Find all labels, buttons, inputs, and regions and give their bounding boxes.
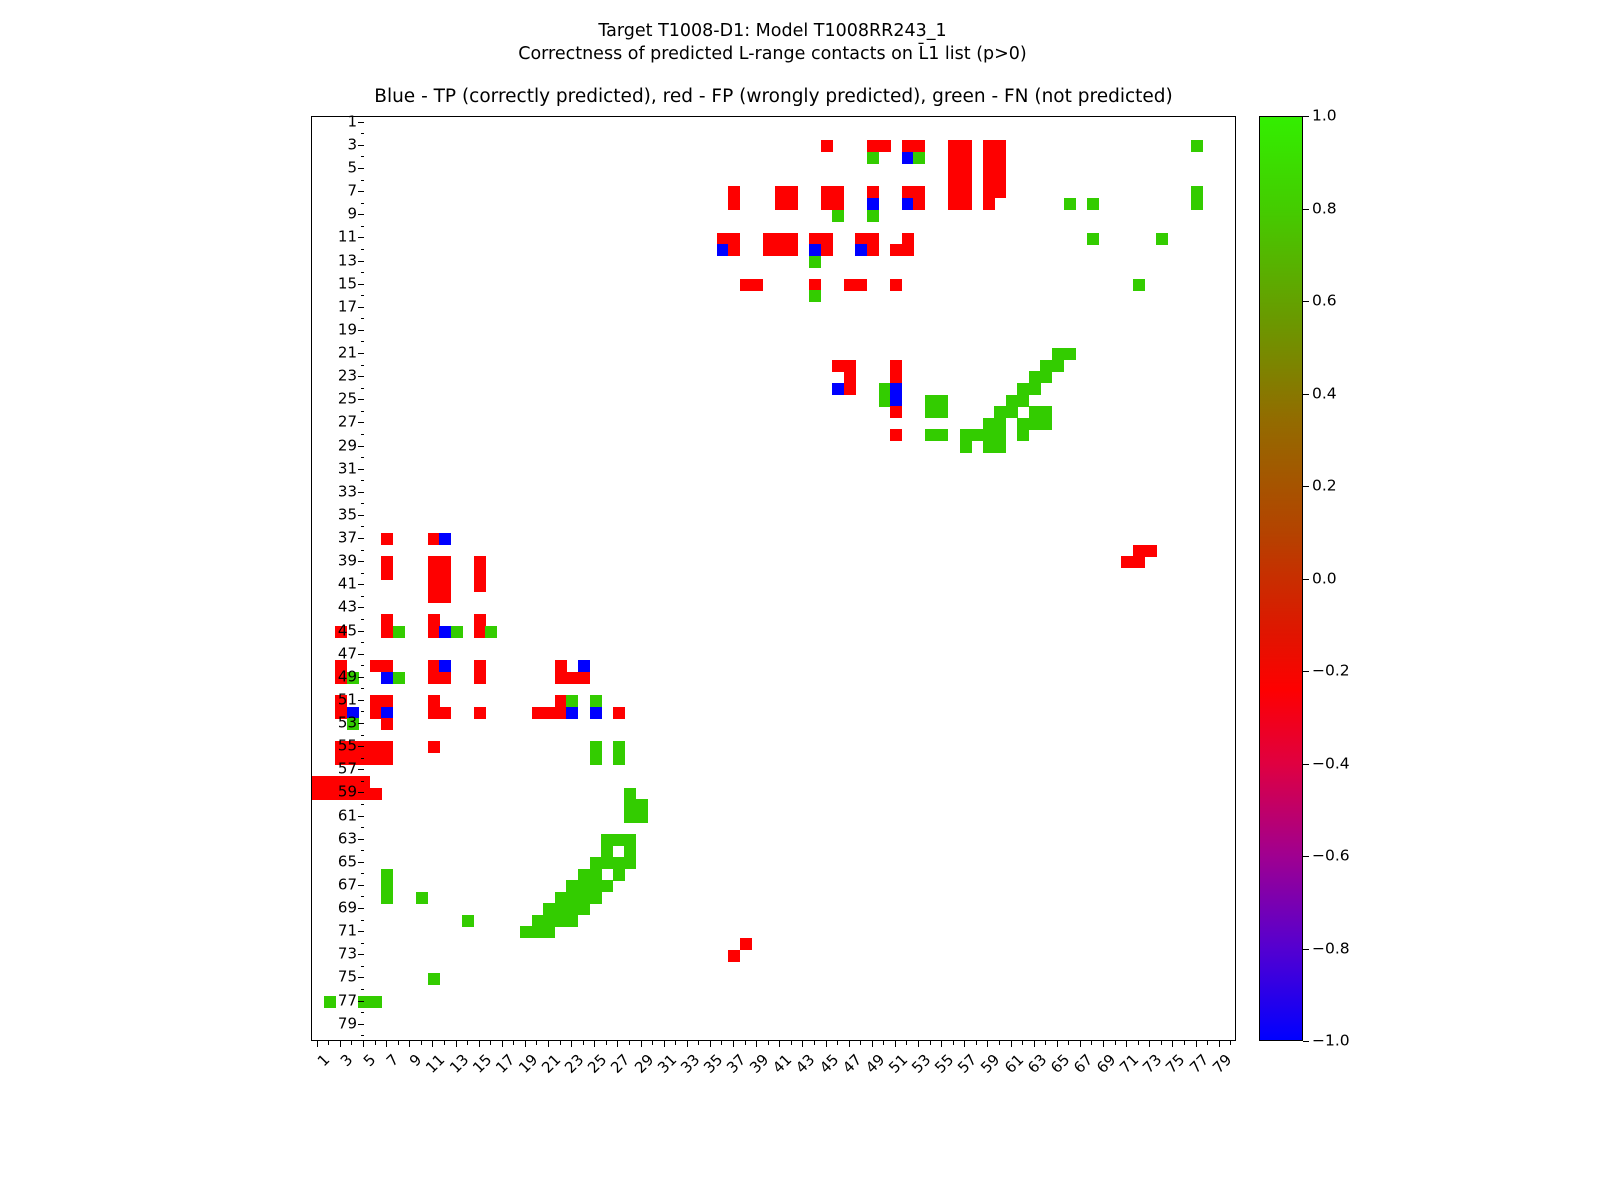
y-tick-mark xyxy=(361,480,365,481)
contact-cell-fn xyxy=(416,892,428,904)
y-tick-mark xyxy=(358,954,364,955)
contact-cell-fp xyxy=(728,198,740,210)
y-tick-label: 63 xyxy=(338,831,357,846)
contact-cell-fn xyxy=(324,996,336,1008)
colorbar-tick-mark xyxy=(1303,301,1309,302)
x-tick-mark xyxy=(1045,1041,1046,1045)
colorbar-tick-mark xyxy=(1303,764,1309,765)
contact-cell-fp xyxy=(381,614,393,626)
x-tick-mark xyxy=(456,1041,457,1047)
colorbar[interactable] xyxy=(1259,116,1303,1041)
colorbar-tick-label: 1.0 xyxy=(1312,108,1337,124)
contact-cell-fn xyxy=(613,741,625,753)
contact-cell-fn xyxy=(613,753,625,765)
y-tick-mark xyxy=(361,365,365,366)
x-tick-mark xyxy=(791,1041,792,1045)
contact-cell-fp xyxy=(890,360,902,372)
y-tick-label: 79 xyxy=(338,1016,357,1031)
x-tick-mark xyxy=(444,1041,445,1045)
contact-cell-fn xyxy=(832,210,844,222)
contact-cell-fp xyxy=(844,371,856,383)
contact-cell-fn xyxy=(566,880,578,892)
y-tick-mark xyxy=(361,735,365,736)
contact-cell-fn xyxy=(994,406,1006,418)
contact-cell-fp xyxy=(994,186,1006,198)
contact-cell-fp xyxy=(786,186,798,198)
colorbar-tick-label: 0.0 xyxy=(1312,571,1337,587)
contact-cell-fp xyxy=(358,741,370,753)
y-tick-mark xyxy=(361,550,365,551)
contact-cell-fn xyxy=(543,926,555,938)
contact-cell-fp xyxy=(381,556,393,568)
y-tick-mark xyxy=(358,607,364,608)
y-tick-mark xyxy=(361,989,365,990)
contact-cell-fn xyxy=(624,799,636,811)
contact-cell-fp xyxy=(775,198,787,210)
contact-cell-fp xyxy=(890,406,902,418)
contact-cell-fn xyxy=(1133,279,1145,291)
contact-cell-tp xyxy=(381,672,393,684)
contact-cell-fp xyxy=(381,626,393,638)
y-tick-label: 73 xyxy=(338,947,357,962)
x-tick-mark xyxy=(386,1041,387,1047)
x-tick-mark xyxy=(860,1041,861,1045)
x-tick-mark xyxy=(617,1041,618,1047)
y-tick-mark xyxy=(358,769,364,770)
x-tick-mark xyxy=(1103,1041,1104,1047)
x-tick-mark xyxy=(826,1041,827,1047)
colorbar-tick-mark xyxy=(1303,579,1309,580)
y-tick-label: 39 xyxy=(338,554,357,569)
contact-cell-fp xyxy=(994,175,1006,187)
contact-cell-fp xyxy=(439,568,451,580)
contact-cell-fp xyxy=(960,163,972,175)
contact-cell-fn xyxy=(462,915,474,927)
x-tick-mark xyxy=(964,1041,965,1047)
contact-cell-fn xyxy=(393,626,405,638)
x-tick-mark xyxy=(583,1041,584,1045)
y-tick-mark xyxy=(361,457,365,458)
x-tick-mark xyxy=(351,1041,352,1045)
contact-cell-fp xyxy=(890,279,902,291)
contact-cell-fn xyxy=(636,799,648,811)
y-tick-mark xyxy=(361,573,365,574)
y-tick-mark xyxy=(361,526,365,527)
contact-cell-tp xyxy=(439,626,451,638)
y-tick-mark xyxy=(358,839,364,840)
x-tick-mark xyxy=(328,1041,329,1045)
x-tick-mark xyxy=(1057,1041,1058,1047)
contact-cell-fp xyxy=(324,788,336,800)
contact-cell-fp xyxy=(844,279,856,291)
x-tick-mark xyxy=(675,1041,676,1045)
colorbar-tick-mark xyxy=(1303,394,1309,395)
contact-cell-fp xyxy=(555,707,567,719)
x-tick-mark xyxy=(1022,1041,1023,1045)
contact-cell-fp xyxy=(775,186,787,198)
y-tick-mark xyxy=(361,156,365,157)
contact-cell-layer xyxy=(312,117,1235,1040)
contact-cell-fn xyxy=(1064,348,1076,360)
y-tick-mark xyxy=(358,492,364,493)
contact-cell-tp xyxy=(890,383,902,395)
contact-cell-fp xyxy=(474,568,486,580)
contact-cell-fn xyxy=(624,857,636,869)
contact-cell-fp xyxy=(786,233,798,245)
y-tick-mark xyxy=(358,538,364,539)
axes-title-legend: Blue - TP (correctly predicted), red - F… xyxy=(311,86,1236,107)
contact-cell-fp xyxy=(474,626,486,638)
contact-cell-fn xyxy=(1017,395,1029,407)
colorbar-tick-label: 0.6 xyxy=(1312,293,1337,309)
y-tick-mark xyxy=(361,411,365,412)
contact-cell-fp xyxy=(613,707,625,719)
contact-cell-fp xyxy=(821,244,833,256)
contact-cell-fn xyxy=(578,892,590,904)
x-tick-mark xyxy=(1011,1041,1012,1047)
y-tick-label: 61 xyxy=(338,808,357,823)
contact-cell-fn xyxy=(624,811,636,823)
x-tick-mark xyxy=(987,1041,988,1047)
contact-cell-fp xyxy=(832,198,844,210)
y-tick-mark xyxy=(361,133,365,134)
contact-cell-fp xyxy=(983,198,995,210)
contact-cell-fn xyxy=(994,441,1006,453)
contact-cell-fn xyxy=(543,915,555,927)
y-tick-label: 25 xyxy=(338,392,357,407)
y-tick-mark xyxy=(358,977,364,978)
x-tick-mark xyxy=(594,1041,595,1047)
contact-cell-fn xyxy=(578,880,590,892)
x-tick-mark xyxy=(560,1041,561,1045)
y-tick-mark xyxy=(358,191,364,192)
colorbar-tick-label: −0.4 xyxy=(1312,756,1350,772)
x-tick-mark xyxy=(525,1041,526,1047)
y-tick-label: 33 xyxy=(338,484,357,499)
contact-cell-fn xyxy=(1029,406,1041,418)
contact-cell-fn xyxy=(936,406,948,418)
y-tick-mark xyxy=(358,261,364,262)
contact-cell-fp xyxy=(428,580,440,592)
y-tick-mark xyxy=(358,168,364,169)
y-tick-mark xyxy=(361,434,365,435)
contact-cell-fn xyxy=(590,741,602,753)
y-tick-mark xyxy=(361,896,365,897)
y-tick-mark xyxy=(361,226,365,227)
x-tick-mark xyxy=(1138,1041,1139,1045)
contact-cell-fn xyxy=(370,996,382,1008)
y-tick-label: 53 xyxy=(338,716,357,731)
y-tick-mark xyxy=(361,203,365,204)
x-tick-mark xyxy=(1091,1041,1092,1045)
colorbar-tick-mark xyxy=(1303,209,1309,210)
contact-cell-fn xyxy=(613,834,625,846)
contact-cell-fn xyxy=(983,429,995,441)
contact-cell-fp xyxy=(428,741,440,753)
y-tick-mark xyxy=(361,850,365,851)
y-tick-mark xyxy=(358,584,364,585)
contact-cell-fp xyxy=(960,152,972,164)
contact-cell-fp xyxy=(381,741,393,753)
contact-cell-fn xyxy=(1040,360,1052,372)
y-tick-label: 13 xyxy=(338,253,357,268)
colorbar-tick-mark xyxy=(1303,671,1309,672)
x-tick-mark xyxy=(606,1041,607,1045)
x-tick-mark xyxy=(340,1041,341,1047)
contact-cell-fp xyxy=(948,152,960,164)
x-tick-mark xyxy=(1126,1041,1127,1047)
contact-cell-fn xyxy=(358,996,370,1008)
contact-cell-fp xyxy=(890,371,902,383)
colorbar-tick-label: 0.8 xyxy=(1312,201,1337,217)
y-tick-mark xyxy=(361,1012,365,1013)
x-tick-mark xyxy=(375,1041,376,1045)
contact-cell-fn xyxy=(1052,348,1064,360)
y-tick-mark xyxy=(358,422,364,423)
x-tick-mark xyxy=(837,1041,838,1045)
contact-cell-fn xyxy=(613,869,625,881)
y-tick-mark xyxy=(361,388,365,389)
contact-cell-fn xyxy=(936,395,948,407)
contact-cell-fp xyxy=(821,140,833,152)
y-tick-mark xyxy=(358,515,364,516)
y-tick-label: 41 xyxy=(338,577,357,592)
y-tick-label: 71 xyxy=(338,924,357,939)
y-tick-label: 55 xyxy=(338,739,357,754)
contact-cell-fn xyxy=(1029,371,1041,383)
y-tick-label: 47 xyxy=(338,646,357,661)
y-tick-mark xyxy=(361,827,365,828)
y-tick-mark xyxy=(361,665,365,666)
colorbar-tick-label: −0.8 xyxy=(1312,941,1350,957)
contact-cell-fp xyxy=(809,233,821,245)
contact-cell-fn xyxy=(566,903,578,915)
contact-cell-fp xyxy=(428,672,440,684)
contact-cell-fn xyxy=(636,811,648,823)
contact-cell-fp xyxy=(902,140,914,152)
contact-cell-fp xyxy=(960,198,972,210)
contact-cell-fn xyxy=(601,880,613,892)
y-tick-label: 21 xyxy=(338,346,357,361)
contact-cell-fn xyxy=(555,892,567,904)
y-tick-mark xyxy=(358,654,364,655)
y-tick-mark xyxy=(361,688,365,689)
y-tick-mark xyxy=(361,943,365,944)
y-tick-mark xyxy=(358,908,364,909)
contact-cell-fn xyxy=(1040,406,1052,418)
contact-cell-tp xyxy=(566,707,578,719)
contact-cell-fp xyxy=(994,163,1006,175)
contact-cell-tp xyxy=(439,660,451,672)
contact-cell-fn xyxy=(451,626,463,638)
contact-cell-fp xyxy=(439,707,451,719)
contact-cell-tp xyxy=(717,244,729,256)
contact-cell-tp xyxy=(578,660,590,672)
contact-cell-fn xyxy=(601,857,613,869)
contact-cell-tp xyxy=(832,383,844,395)
contact-cell-fn xyxy=(960,429,972,441)
y-tick-label: 31 xyxy=(338,461,357,476)
contact-cell-fn xyxy=(913,152,925,164)
contact-cell-fn xyxy=(578,869,590,881)
y-tick-label: 5 xyxy=(347,161,357,176)
x-tick-mark xyxy=(849,1041,850,1047)
contact-cell-fn xyxy=(543,903,555,915)
contact-cell-fn xyxy=(532,926,544,938)
contact-cell-fp xyxy=(740,938,752,950)
contact-cell-fn xyxy=(867,210,879,222)
y-tick-label: 9 xyxy=(347,207,357,222)
contact-cell-fp xyxy=(948,186,960,198)
contact-cell-fp xyxy=(879,140,891,152)
contact-cell-fp xyxy=(948,198,960,210)
x-tick-mark xyxy=(490,1041,491,1045)
x-tick-mark xyxy=(1161,1041,1162,1045)
x-tick-mark xyxy=(698,1041,699,1045)
contact-cell-fn xyxy=(879,383,891,395)
contact-cell-fp xyxy=(428,533,440,545)
contact-cell-fp xyxy=(832,360,844,372)
contact-cell-fn xyxy=(971,429,983,441)
y-tick-label: 51 xyxy=(338,692,357,707)
contact-cell-fn xyxy=(1052,360,1064,372)
contact-cell-fp xyxy=(983,175,995,187)
y-tick-mark xyxy=(358,862,364,863)
x-tick-mark xyxy=(629,1041,630,1045)
contact-cell-fp xyxy=(728,186,740,198)
contact-cell-fp xyxy=(474,556,486,568)
x-tick-mark xyxy=(1207,1041,1208,1045)
y-tick-label: 59 xyxy=(338,785,357,800)
y-tick-mark xyxy=(361,642,365,643)
y-tick-mark xyxy=(358,885,364,886)
x-tick-mark xyxy=(918,1041,919,1047)
contact-cell-fn xyxy=(1006,406,1018,418)
x-tick-mark xyxy=(872,1041,873,1047)
contact-cell-fp xyxy=(555,695,567,707)
contact-cell-fp xyxy=(867,140,879,152)
y-tick-mark xyxy=(361,249,365,250)
contact-cell-fp xyxy=(948,140,960,152)
y-tick-mark xyxy=(358,723,364,724)
x-tick-mark xyxy=(976,1041,977,1045)
y-tick-label: 43 xyxy=(338,600,357,615)
contact-cell-fp xyxy=(786,244,798,256)
contact-cell-fn xyxy=(1040,371,1052,383)
y-tick-label: 35 xyxy=(338,507,357,522)
contact-cell-tp xyxy=(381,707,393,719)
contact-cell-fn xyxy=(809,290,821,302)
contact-cell-fp xyxy=(474,660,486,672)
x-tick-mark xyxy=(814,1041,815,1045)
y-tick-label: 7 xyxy=(347,184,357,199)
x-tick-mark xyxy=(768,1041,769,1045)
y-tick-mark xyxy=(361,1035,365,1036)
contact-cell-fp xyxy=(844,360,856,372)
y-tick-mark xyxy=(358,376,364,377)
contact-cell-fp xyxy=(381,660,393,672)
contact-cell-fp xyxy=(543,707,555,719)
colorbar-tick-label: 0.4 xyxy=(1312,386,1337,402)
contact-cell-fn xyxy=(1191,140,1203,152)
contact-cell-tp xyxy=(855,244,867,256)
y-tick-mark xyxy=(361,295,365,296)
y-tick-label: 27 xyxy=(338,415,357,430)
contact-cell-fp xyxy=(1133,545,1145,557)
x-tick-mark xyxy=(895,1041,896,1047)
contact-cell-fn xyxy=(624,834,636,846)
contact-cell-tp xyxy=(590,707,602,719)
x-tick-mark xyxy=(363,1041,364,1047)
contact-cell-fp xyxy=(775,244,787,256)
colorbar-gradient xyxy=(1260,117,1302,1040)
contact-cell-fp xyxy=(948,163,960,175)
contact-cell-fn xyxy=(994,429,1006,441)
contact-cell-fp xyxy=(960,140,972,152)
contact-cell-fn xyxy=(590,869,602,881)
y-tick-label: 15 xyxy=(338,276,357,291)
y-tick-mark xyxy=(358,237,364,238)
contact-cell-fp xyxy=(428,614,440,626)
y-tick-mark xyxy=(358,145,364,146)
contact-cell-fn xyxy=(520,926,532,938)
contact-cell-fp xyxy=(370,741,382,753)
contact-cell-fp xyxy=(809,279,821,291)
y-tick-mark xyxy=(361,341,365,342)
y-tick-mark xyxy=(358,931,364,932)
colorbar-tick-mark xyxy=(1303,1041,1309,1042)
contact-cell-tp xyxy=(890,395,902,407)
y-tick-mark xyxy=(358,122,364,123)
contact-map-plot-area[interactable] xyxy=(311,116,1236,1041)
y-tick-mark xyxy=(358,631,364,632)
y-tick-mark xyxy=(358,677,364,678)
contact-cell-fp xyxy=(983,186,995,198)
y-tick-label: 49 xyxy=(338,669,357,684)
x-tick-mark xyxy=(398,1041,399,1045)
colorbar-tick-label: −1.0 xyxy=(1312,1033,1350,1049)
y-tick-label: 75 xyxy=(338,970,357,985)
contact-cell-fp xyxy=(312,788,324,800)
contact-cell-fp xyxy=(994,152,1006,164)
contact-cell-fn xyxy=(428,973,440,985)
y-tick-label: 65 xyxy=(338,854,357,869)
contact-cell-fp xyxy=(913,186,925,198)
y-tick-mark xyxy=(358,214,364,215)
x-tick-mark xyxy=(1196,1041,1197,1047)
colorbar-tick-label: 0.2 xyxy=(1312,478,1337,494)
y-tick-mark xyxy=(361,781,365,782)
contact-cell-fp xyxy=(763,233,775,245)
contact-cell-fp xyxy=(902,186,914,198)
contact-cell-fp xyxy=(902,233,914,245)
x-tick-mark xyxy=(1149,1041,1150,1047)
y-tick-mark xyxy=(361,873,365,874)
contact-cell-fn xyxy=(994,418,1006,430)
y-tick-mark xyxy=(361,966,365,967)
contact-cell-fp xyxy=(381,533,393,545)
contact-cell-fp xyxy=(474,580,486,592)
contact-cell-fp xyxy=(474,707,486,719)
contact-cell-fn xyxy=(566,892,578,904)
x-tick-mark xyxy=(906,1041,907,1045)
contact-cell-fp xyxy=(428,568,440,580)
contact-cell-fp xyxy=(867,244,879,256)
y-tick-mark xyxy=(358,469,364,470)
contact-cell-fp xyxy=(994,140,1006,152)
y-tick-mark xyxy=(361,272,365,273)
contact-cell-fp xyxy=(428,660,440,672)
